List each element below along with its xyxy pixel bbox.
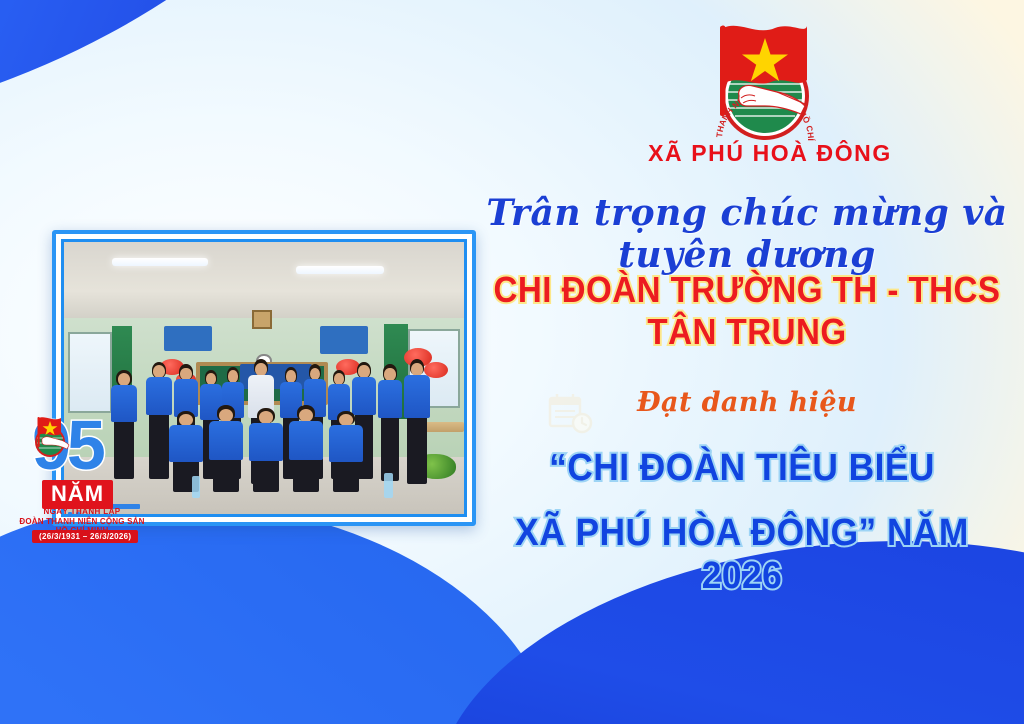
honoree-line-2: TÂN TRUNG (492, 311, 1002, 353)
badge-youth-union-emblem (28, 414, 72, 458)
youth-union-emblem: ĐOÀN THANH NIÊN CỘNG SẢN HỒ CHÍ MINH (640, 14, 890, 144)
award-intro: Đạt danh hiệu (470, 387, 1024, 418)
ribbon-top-left-blue (0, 0, 450, 143)
organization-title: XÃ PHÚ HOÀ ĐÔNG (540, 140, 1000, 167)
honoree-line-1: CHI ĐOÀN TRƯỜNG TH - THCS (492, 269, 1002, 311)
congratulation-line: Trân trọng chúc mừng và tuyên dương (470, 192, 1024, 276)
anniversary-badge: 95 NĂM NGÀY THÀNH LẬP ĐOÀN THANH NIÊN CỘ… (18, 408, 146, 548)
ribbon-top-left-orange (0, 0, 470, 174)
award-line-2: XÃ PHÚ HÒA ĐÔNG” NĂM 2026 (480, 512, 1005, 598)
youth-union-emblem-svg: ĐOÀN THANH NIÊN CỘNG SẢN HỒ CHÍ MINH (665, 14, 865, 144)
congratulation-poster: ĐOÀN THANH NIÊN CỘNG SẢN HỒ CHÍ MINH XÃ … (0, 0, 1024, 724)
badge-unit: NĂM (42, 480, 113, 509)
award-line-1: “CHI ĐOÀN TIÊU BIỂU (480, 447, 1005, 490)
badge-dates: (26/3/1931 – 26/3/2026) (32, 530, 138, 543)
ribbon-top-left-white (0, 0, 498, 216)
